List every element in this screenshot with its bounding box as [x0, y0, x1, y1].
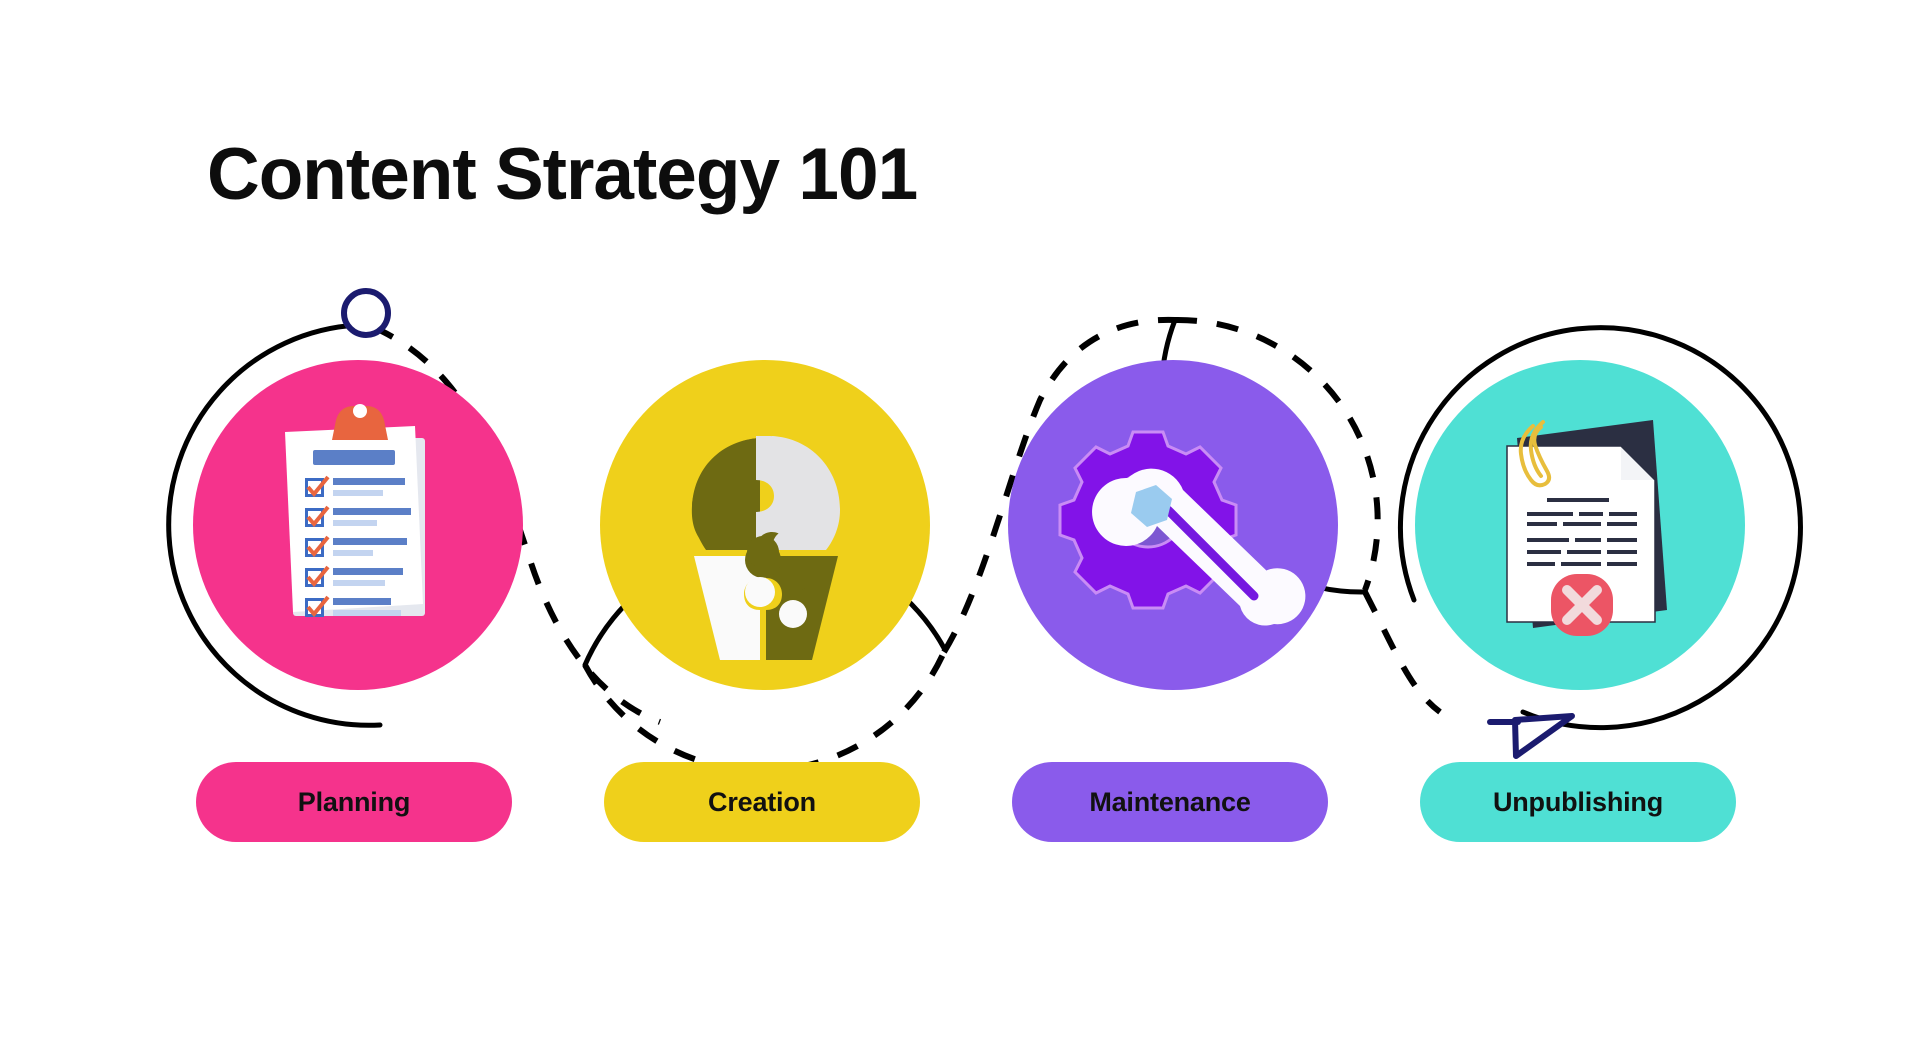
end-arrow-marker	[1490, 716, 1572, 756]
step-label-planning: Planning	[298, 787, 410, 818]
step-label-pill-maintenance[interactable]: Maintenance	[1012, 762, 1328, 842]
step-circle-planning[interactable]	[193, 360, 523, 690]
document-rejected-icon	[1415, 360, 1745, 690]
puzzle-pieces-icon	[600, 360, 930, 690]
step-label-pill-unpublishing[interactable]: Unpublishing	[1420, 762, 1736, 842]
step-label-pill-creation[interactable]: Creation	[604, 762, 920, 842]
step-label-maintenance: Maintenance	[1089, 787, 1250, 818]
page-title: Content Strategy 101	[207, 138, 917, 211]
start-circle-marker	[344, 291, 388, 335]
step-label-unpublishing: Unpublishing	[1493, 787, 1663, 818]
clipboard-checklist-icon	[193, 360, 523, 690]
step-circle-maintenance[interactable]	[1008, 360, 1338, 690]
infographic-canvas: Content Strategy 101	[0, 0, 1920, 1061]
step-circle-unpublishing[interactable]	[1415, 360, 1745, 690]
step-label-pill-planning[interactable]: Planning	[196, 762, 512, 842]
step-label-creation: Creation	[708, 787, 816, 818]
gear-wrench-icon	[1008, 360, 1338, 690]
step-circle-creation[interactable]	[600, 360, 930, 690]
